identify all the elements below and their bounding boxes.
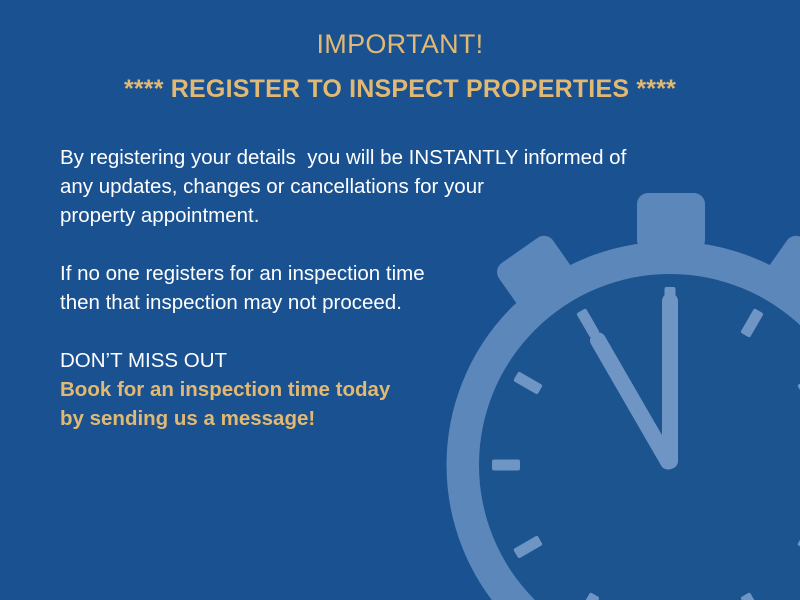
headline-register: **** REGISTER TO INSPECT PROPERTIES ****	[0, 74, 800, 104]
slide-canvas: IMPORTANT! **** REGISTER TO INSPECT PROP…	[0, 0, 800, 600]
paragraph-spacer-2	[60, 317, 720, 346]
cta-line1: Book for an inspection time today	[60, 375, 720, 404]
paragraph1-line2: any updates, changes or cancellations fo…	[60, 172, 720, 201]
body-block: By registering your details you will be …	[60, 143, 720, 433]
paragraph-spacer-1	[60, 230, 720, 259]
cta-heading: DON’T MISS OUT	[60, 346, 720, 375]
paragraph-no-registration-warning: If no one registers for an inspection ti…	[60, 259, 720, 317]
paragraph1-line1: By registering your details you will be …	[60, 143, 720, 172]
headline-block: IMPORTANT! **** REGISTER TO INSPECT PROP…	[0, 28, 800, 104]
paragraph2-line2: then that inspection may not proceed.	[60, 288, 720, 317]
cta-action-text: Book for an inspection time today by sen…	[60, 375, 720, 433]
paragraph1-line3: property appointment.	[60, 201, 720, 230]
slide-content: IMPORTANT! **** REGISTER TO INSPECT PROP…	[0, 0, 800, 600]
cta-line2: by sending us a message!	[60, 404, 720, 433]
headline-important: IMPORTANT!	[0, 28, 800, 60]
paragraph-registering-benefits: By registering your details you will be …	[60, 143, 720, 230]
paragraph2-line1: If no one registers for an inspection ti…	[60, 259, 720, 288]
